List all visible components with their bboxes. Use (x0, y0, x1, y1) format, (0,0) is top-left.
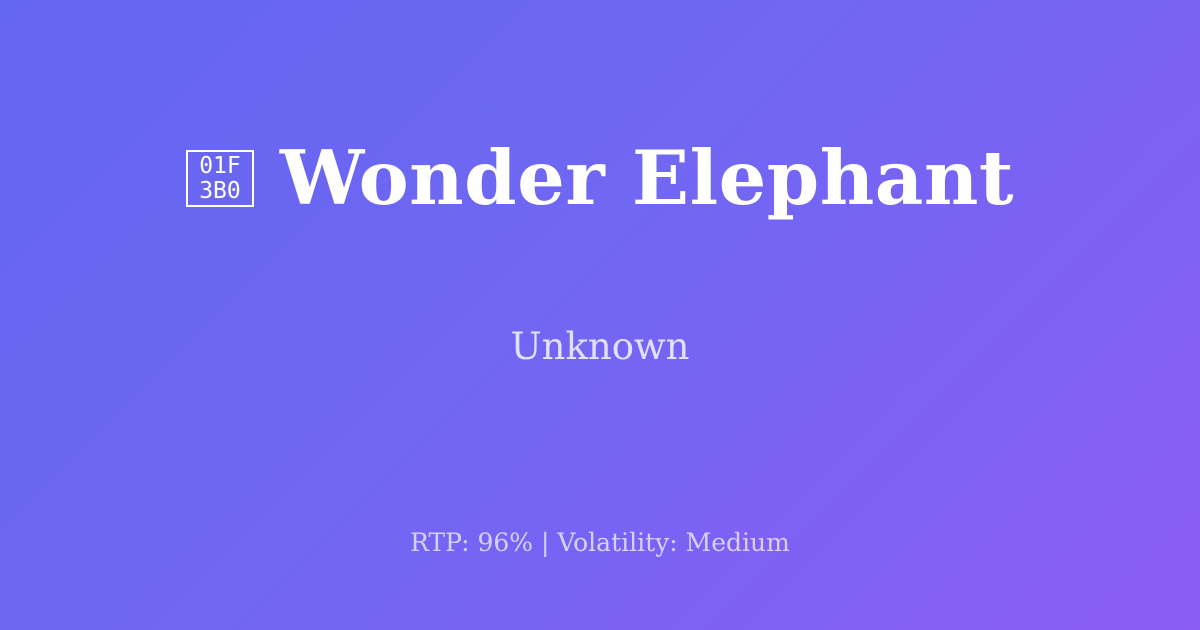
page-title: Wonder Elephant (280, 141, 1014, 216)
slot-machine-icon: 01F 3B0 (186, 150, 254, 207)
title-row: 01F 3B0 Wonder Elephant (186, 91, 1014, 267)
hero-section: 01F 3B0 Wonder Elephant Unknown (0, 0, 1200, 470)
game-stats-line: RTP: 96% | Volatility: Medium (0, 528, 1200, 557)
slot-machine-icon-hex-top: 01F (199, 154, 241, 179)
game-preview-card: 01F 3B0 Wonder Elephant Unknown RTP: 96%… (0, 0, 1200, 630)
provider-subtitle: Unknown (510, 328, 689, 365)
slot-machine-icon-hex-bottom: 3B0 (199, 179, 241, 204)
